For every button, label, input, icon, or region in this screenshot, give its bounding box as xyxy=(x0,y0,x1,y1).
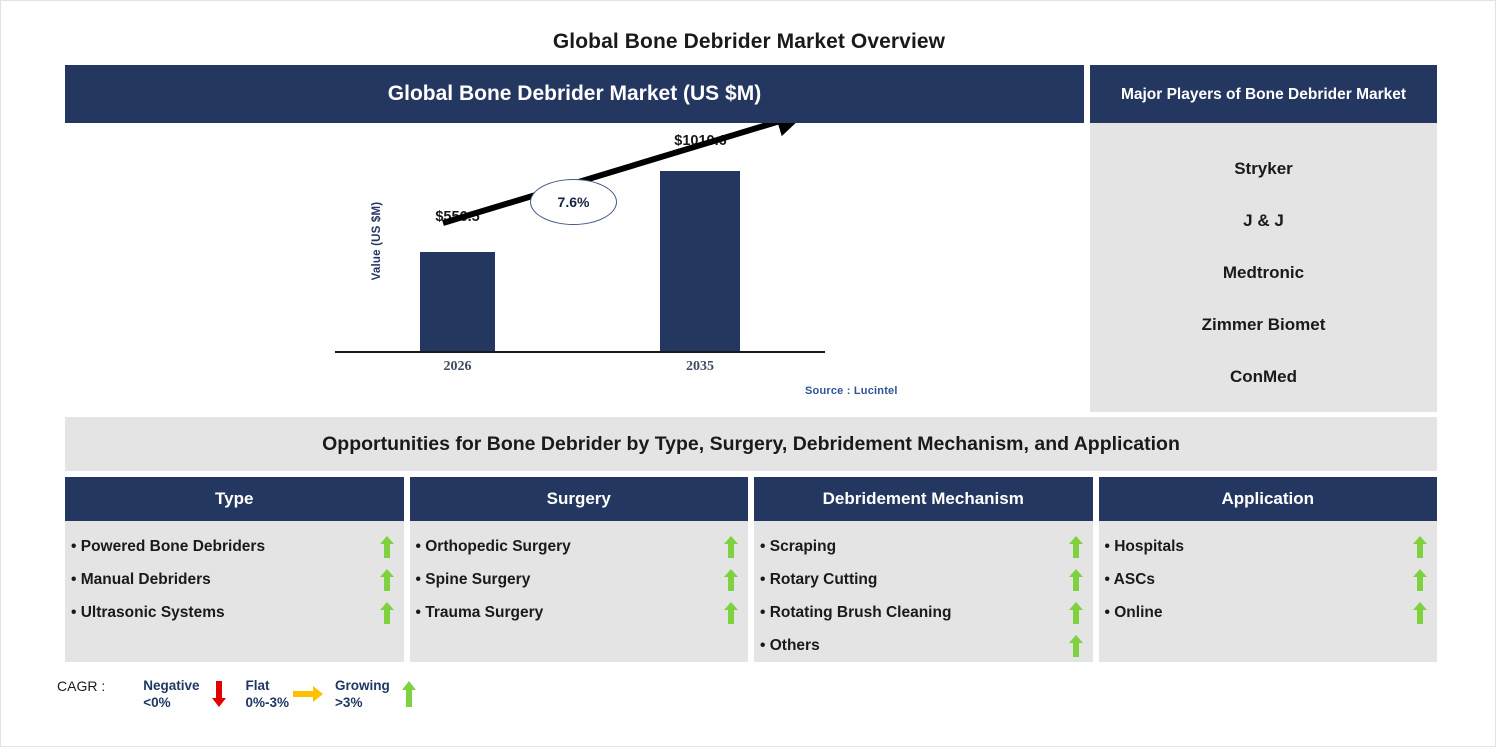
list-item: • Rotary Cutting xyxy=(760,563,1083,596)
list-item: J & J xyxy=(1090,195,1437,247)
legend-item-name: Growing xyxy=(335,677,390,694)
arrow-up-green-icon xyxy=(394,677,424,711)
list-item: • Orthopedic Surgery xyxy=(416,530,739,563)
category-header: Debridement Mechanism xyxy=(754,477,1093,521)
major-players-header: Major Players of Bone Debrider Market xyxy=(1090,65,1437,123)
category-header: Type xyxy=(65,477,404,521)
arrow-right-yellow-icon xyxy=(293,677,323,711)
legend-item-name: Flat xyxy=(246,677,290,694)
category-item-list: • Powered Bone Debriders • Manual Debrid… xyxy=(65,521,404,662)
category-column-debridement-mechanism: Debridement Mechanism • Scraping • Rotar… xyxy=(754,477,1093,662)
arrow-up-green-icon xyxy=(1069,536,1083,558)
category-item-label: • ASCs xyxy=(1105,571,1156,589)
arrow-up-green-icon xyxy=(380,602,394,624)
chart-y-axis-label: Value (US $M) xyxy=(371,181,383,301)
category-item-label: • Manual Debriders xyxy=(71,571,211,589)
category-item-label: • Hospitals xyxy=(1105,538,1185,556)
bar-2026 xyxy=(420,252,495,351)
category-item-list: • Hospitals • ASCs • Online xyxy=(1099,521,1438,662)
category-header: Surgery xyxy=(410,477,749,521)
category-item-list: • Scraping • Rotary Cutting • Rotating B… xyxy=(754,521,1093,662)
chart-source-note: Source : Lucintel xyxy=(805,385,898,397)
arrow-down-red-icon xyxy=(204,677,234,711)
arrow-up-green-icon xyxy=(1413,569,1427,591)
list-item: • Rotating Brush Cleaning xyxy=(760,596,1083,629)
legend-item-name: Negative xyxy=(143,677,199,694)
list-item: • ASCs xyxy=(1105,563,1428,596)
category-item-label: • Ultrasonic Systems xyxy=(71,604,225,622)
legend-item-growing: Growing >3% xyxy=(335,677,428,711)
major-players-panel: Major Players of Bone Debrider Market St… xyxy=(1090,65,1437,412)
category-item-label: • Trauma Surgery xyxy=(416,604,544,622)
list-item: • Scraping xyxy=(760,530,1083,563)
chart-x-axis-line xyxy=(335,351,825,353)
legend-item-flat: Flat 0%-3% xyxy=(246,677,328,711)
category-item-label: • Rotary Cutting xyxy=(760,571,877,589)
x-tick-label-2026: 2026 xyxy=(415,359,500,375)
arrow-up-green-icon xyxy=(380,536,394,558)
infographic-root: Global Bone Debrider Market Overview Glo… xyxy=(0,0,1496,747)
list-item: • Manual Debriders xyxy=(71,563,394,596)
bar-value-2026: $556.5 xyxy=(415,209,500,225)
legend-item-text: Growing >3% xyxy=(335,677,390,711)
legend-item-range: <0% xyxy=(143,694,199,711)
legend-item-text: Negative <0% xyxy=(143,677,199,711)
list-item: • Spine Surgery xyxy=(416,563,739,596)
arrow-up-green-icon xyxy=(724,536,738,558)
category-item-label: • Rotating Brush Cleaning xyxy=(760,604,951,622)
arrow-up-green-icon xyxy=(1069,602,1083,624)
page-title: Global Bone Debrider Market Overview xyxy=(1,30,1496,54)
list-item: Stryker xyxy=(1090,143,1437,195)
category-item-label: • Scraping xyxy=(760,538,836,556)
arrow-up-green-icon xyxy=(724,602,738,624)
cagr-legend: CAGR : Negative <0% Flat 0%-3% Growing >… xyxy=(57,677,436,711)
cagr-value-bubble: 7.6% xyxy=(530,179,617,225)
list-item: Zimmer Biomet xyxy=(1090,299,1437,351)
category-item-label: • Spine Surgery xyxy=(416,571,531,589)
arrow-up-green-icon xyxy=(1413,602,1427,624)
arrow-up-green-icon xyxy=(724,569,738,591)
category-item-label: • Orthopedic Surgery xyxy=(416,538,571,556)
major-players-list: Stryker J & J Medtronic Zimmer Biomet Co… xyxy=(1090,123,1437,412)
opportunities-banner: Opportunities for Bone Debrider by Type,… xyxy=(65,417,1437,471)
category-column-type: Type • Powered Bone Debriders • Manual D… xyxy=(65,477,404,662)
list-item: • Hospitals xyxy=(1105,530,1428,563)
list-item: Medtronic xyxy=(1090,247,1437,299)
category-item-label: • Powered Bone Debriders xyxy=(71,538,265,556)
legend-title: CAGR : xyxy=(57,677,105,694)
list-item: • Powered Bone Debriders xyxy=(71,530,394,563)
bar-value-2035: $1010.6 xyxy=(653,133,748,149)
legend-item-range: >3% xyxy=(335,694,390,711)
opportunity-columns: Type • Powered Bone Debriders • Manual D… xyxy=(65,477,1437,662)
arrow-up-green-icon xyxy=(1069,635,1083,657)
list-item: • Online xyxy=(1105,596,1428,629)
bar-2035 xyxy=(660,171,740,351)
list-item: ConMed xyxy=(1090,351,1437,403)
category-column-application: Application • Hospitals • ASCs • Online xyxy=(1099,477,1438,662)
x-tick-label-2035: 2035 xyxy=(655,359,745,375)
legend-item-text: Flat 0%-3% xyxy=(246,677,290,711)
list-item: • Trauma Surgery xyxy=(416,596,739,629)
arrow-up-green-icon xyxy=(380,569,394,591)
chart-plot-area: Value (US $M) $556.5 $1010.6 2026 2035 7… xyxy=(65,123,1084,412)
arrow-up-green-icon xyxy=(1069,569,1083,591)
legend-item-range: 0%-3% xyxy=(246,694,290,711)
chart-panel-header: Global Bone Debrider Market (US $M) xyxy=(65,65,1084,123)
category-header: Application xyxy=(1099,477,1438,521)
legend-item-negative: Negative <0% xyxy=(143,677,237,711)
cagr-trend-arrow-icon xyxy=(335,123,835,373)
category-item-list: • Orthopedic Surgery • Spine Surgery • T… xyxy=(410,521,749,662)
category-item-label: • Others xyxy=(760,637,820,655)
arrow-up-green-icon xyxy=(1413,536,1427,558)
list-item: • Ultrasonic Systems xyxy=(71,596,394,629)
market-chart-panel: Global Bone Debrider Market (US $M) Valu… xyxy=(65,65,1084,412)
list-item: • Others xyxy=(760,629,1083,662)
category-column-surgery: Surgery • Orthopedic Surgery • Spine Sur… xyxy=(410,477,749,662)
category-item-label: • Online xyxy=(1105,604,1163,622)
